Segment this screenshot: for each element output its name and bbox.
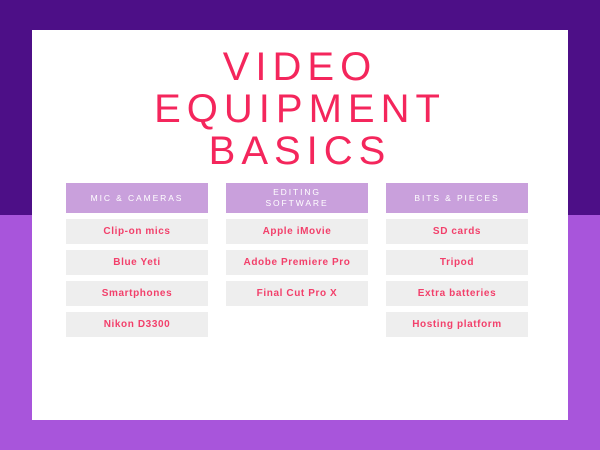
list-item[interactable]: Adobe Premiere Pro — [226, 250, 368, 275]
column-header-editing-software: EDITING SOFTWARE — [226, 183, 368, 213]
list-item[interactable]: Tripod — [386, 250, 528, 275]
list-item[interactable]: Hosting platform — [386, 312, 528, 337]
list-item[interactable]: Clip-on mics — [66, 219, 208, 244]
list-item[interactable]: Extra batteries — [386, 281, 528, 306]
list-item[interactable]: Smartphones — [66, 281, 208, 306]
list-item[interactable]: SD cards — [386, 219, 528, 244]
list-item[interactable]: Apple iMovie — [226, 219, 368, 244]
list-item[interactable]: Nikon D3300 — [66, 312, 208, 337]
list-item[interactable]: Blue Yeti — [66, 250, 208, 275]
list-item[interactable]: Final Cut Pro X — [226, 281, 368, 306]
column-header-bits-and-pieces: BITS & PIECES — [386, 183, 528, 213]
column-items-editing-software: Apple iMovie Adobe Premiere Pro Final Cu… — [226, 213, 368, 306]
page-title: VIDEO EQUIPMENT BASICS — [32, 46, 568, 172]
category-columns: MIC & CAMERAS Clip-on mics Blue Yeti Sma… — [66, 183, 528, 337]
column-header-mic-and-cameras: MIC & CAMERAS — [66, 183, 208, 213]
column-items-bits-and-pieces: SD cards Tripod Extra batteries Hosting … — [386, 213, 528, 337]
content-card: VIDEO EQUIPMENT BASICS MIC & CAMERAS Cli… — [32, 30, 568, 420]
slide-canvas: VIDEO EQUIPMENT BASICS MIC & CAMERAS Cli… — [0, 0, 600, 450]
category-column-editing-software: EDITING SOFTWARE Apple iMovie Adobe Prem… — [226, 183, 368, 306]
category-column-bits-and-pieces: BITS & PIECES SD cards Tripod Extra batt… — [386, 183, 528, 337]
category-column-mic-and-cameras: MIC & CAMERAS Clip-on mics Blue Yeti Sma… — [66, 183, 208, 337]
column-items-mic-and-cameras: Clip-on mics Blue Yeti Smartphones Nikon… — [66, 213, 208, 337]
